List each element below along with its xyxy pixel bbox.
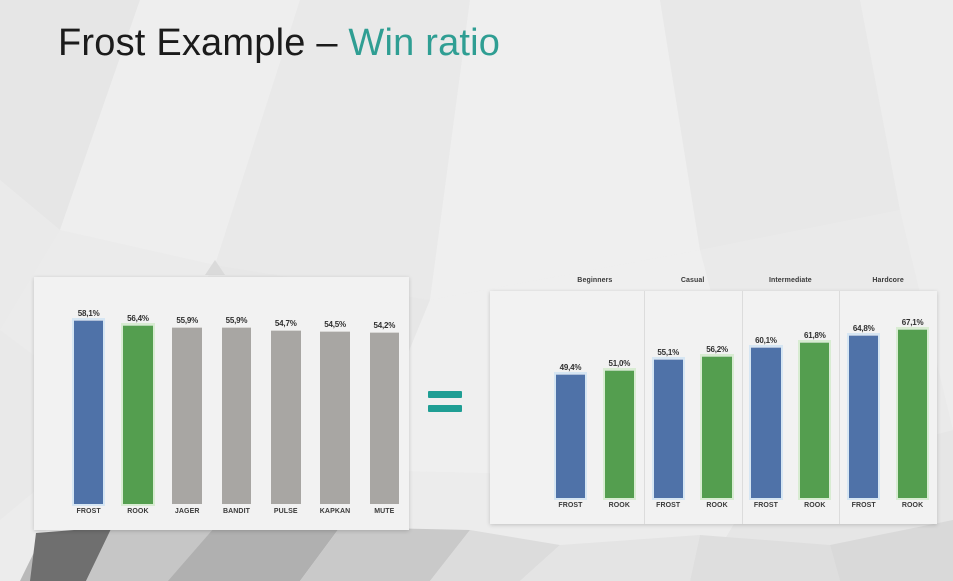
bar-value-label: 58,1% — [78, 309, 100, 318]
bar — [370, 332, 400, 504]
group-header: Intermediate — [742, 277, 840, 291]
bar-value-label: 55,9% — [176, 316, 198, 325]
bar-value-label: 56,2% — [706, 345, 728, 354]
equals-bar-top — [428, 391, 462, 398]
bar-value-label: 54,7% — [275, 319, 297, 328]
bar — [123, 325, 153, 504]
page-title: Frost Example – Win ratio — [58, 22, 500, 65]
bar — [898, 329, 927, 498]
x-axis-tick-label: ROOK — [113, 508, 162, 524]
x-axis-tick-label: JAGER — [163, 508, 212, 524]
x-axis-tick-label: PULSE — [261, 508, 310, 524]
bar-slot: 64,8% — [839, 299, 888, 498]
x-axis-labels-left: FROSTROOKJAGERBANDITPULSEKAPKANMUTE — [34, 508, 409, 524]
x-axis-tick-label: FROST — [644, 502, 693, 518]
group-header: Beginners — [546, 277, 644, 291]
bar-value-label: 67,1% — [902, 318, 924, 327]
bar-slot: 54,2% — [360, 285, 409, 504]
bar-value-label: 51,0% — [608, 359, 630, 368]
equals-icon — [428, 391, 462, 413]
x-axis-labels-right: FROSTROOKFROSTROOKFROSTROOKFROSTROOK — [490, 502, 937, 518]
bar-slot: 67,1% — [888, 299, 937, 498]
x-axis-tick-label: FROST — [64, 508, 113, 524]
bar — [654, 359, 683, 498]
bar — [556, 374, 585, 498]
bar — [172, 327, 202, 504]
bar-slot: 56,4% — [113, 285, 162, 504]
bar — [320, 331, 350, 504]
x-axis-tick-label: ROOK — [693, 502, 742, 518]
bar-slot: 55,1% — [644, 299, 693, 498]
x-axis-tick-label: ROOK — [790, 502, 839, 518]
equals-bar-bottom — [428, 405, 462, 412]
bar-value-label: 60,1% — [755, 336, 777, 345]
bar-slot: 56,2% — [693, 299, 742, 498]
bar — [849, 335, 878, 498]
bar-slot: 55,9% — [212, 285, 261, 504]
bar — [702, 356, 731, 498]
x-axis-tick-label: MUTE — [360, 508, 409, 524]
group-header: Hardcore — [839, 277, 937, 291]
chart-operator-win-ratio[interactable]: Win ratio F 58,1%56,4%55,9%55,9%54,7%54,… — [34, 277, 409, 530]
bar-value-label: 61,8% — [804, 331, 826, 340]
bar-value-label: 56,4% — [127, 314, 149, 323]
bar-group-right: 49,4%51,0%55,1%56,2%60,1%61,8%64,8%67,1% — [490, 299, 937, 498]
bar-value-label: 54,5% — [324, 320, 346, 329]
bar-slot: 54,5% — [310, 285, 359, 504]
title-main-text: Frost Example – — [58, 22, 348, 64]
bar-slot: 54,7% — [261, 285, 310, 504]
bar-slot: 51,0% — [595, 299, 644, 498]
x-axis-tick-label: BANDIT — [212, 508, 261, 524]
bar — [74, 320, 104, 504]
x-axis-tick-label: KAPKAN — [310, 508, 359, 524]
bar — [222, 327, 252, 504]
bar — [271, 330, 301, 504]
bar — [800, 342, 829, 498]
bar-value-label: 64,8% — [853, 324, 875, 333]
x-axis-tick-label: ROOK — [595, 502, 644, 518]
x-axis-tick-label: FROST — [839, 502, 888, 518]
bar-slot: 58,1% — [64, 285, 113, 504]
x-axis-tick-label: FROST — [742, 502, 791, 518]
bar-value-label: 55,9% — [226, 316, 248, 325]
chart-win-ratio-by-skill[interactable]: Win ratio BeginnersCasualIntermediateHar… — [490, 291, 937, 524]
plot-area-right: BeginnersCasualIntermediateHardcore 49,4… — [490, 291, 937, 524]
bar-value-label: 49,4% — [560, 363, 582, 372]
group-header-row: BeginnersCasualIntermediateHardcore — [546, 277, 937, 291]
plot-area-left: 58,1%56,4%55,9%55,9%54,7%54,5%54,2% FROS… — [34, 277, 409, 530]
bar-slot: 55,9% — [163, 285, 212, 504]
bar-group-left: 58,1%56,4%55,9%55,9%54,7%54,5%54,2% — [34, 285, 409, 504]
bar — [605, 370, 634, 498]
x-axis-tick-label: FROST — [546, 502, 595, 518]
x-axis-tick-label: ROOK — [888, 502, 937, 518]
bar-slot: 60,1% — [742, 299, 791, 498]
bar-value-label: 55,1% — [657, 348, 679, 357]
group-header: Casual — [644, 277, 742, 291]
bar-slot: 61,8% — [790, 299, 839, 498]
title-accent-text: Win ratio — [348, 22, 500, 64]
bar-slot: 49,4% — [546, 299, 595, 498]
bar — [751, 347, 780, 498]
bar-value-label: 54,2% — [373, 321, 395, 330]
